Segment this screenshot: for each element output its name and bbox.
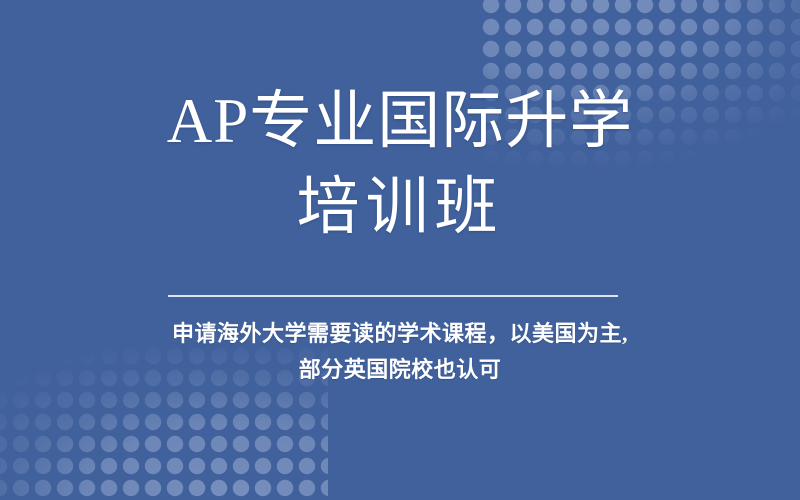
- banner-title: AP专业国际升学 培训班: [0, 78, 800, 250]
- title-line-1: AP专业国际升学: [0, 78, 800, 164]
- banner-subtitle: 申请海外大学需要读的学术课程，以美国为主, 部分英国院校也认可: [0, 316, 800, 388]
- title-line-2: 培训班: [0, 164, 800, 250]
- subtitle-line-1: 申请海外大学需要读的学术课程，以美国为主,: [0, 316, 800, 352]
- title-divider: [168, 295, 618, 297]
- subtitle-line-2: 部分英国院校也认可: [0, 352, 800, 388]
- promo-banner: AP专业国际升学 培训班 申请海外大学需要读的学术课程，以美国为主, 部分英国院…: [0, 0, 800, 500]
